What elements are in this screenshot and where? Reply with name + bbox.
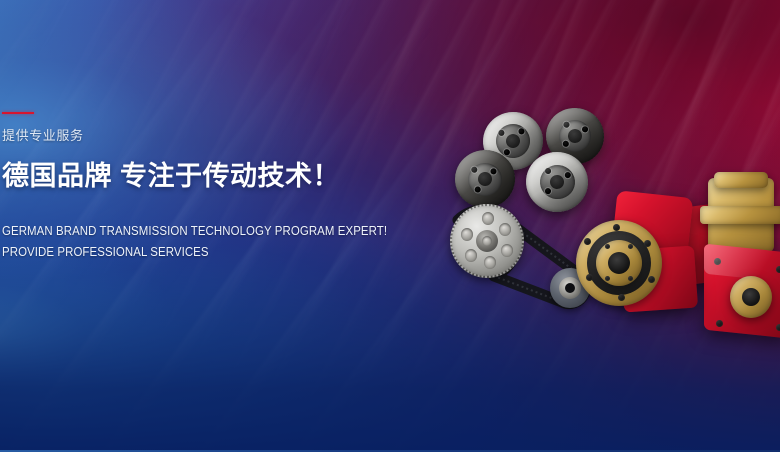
banner-english-line-2: PROVIDE PROFESSIONAL SERVICES <box>2 241 372 262</box>
banner-copy-block: 提供专业服务 德国品牌 专注于传动技术！ GERMAN BRAND TRANSM… <box>2 112 422 262</box>
accent-rule <box>2 112 34 114</box>
hero-banner: 提供专业服务 德国品牌 专注于传动技术！ GERMAN BRAND TRANSM… <box>0 0 780 452</box>
banner-headline: 德国品牌 专注于传动技术！ <box>2 160 422 192</box>
banner-english-line-1: GERMAN BRAND TRANSMISSION TECHNOLOGY PRO… <box>2 220 372 241</box>
banner-subtitle: 提供专业服务 <box>2 128 422 144</box>
